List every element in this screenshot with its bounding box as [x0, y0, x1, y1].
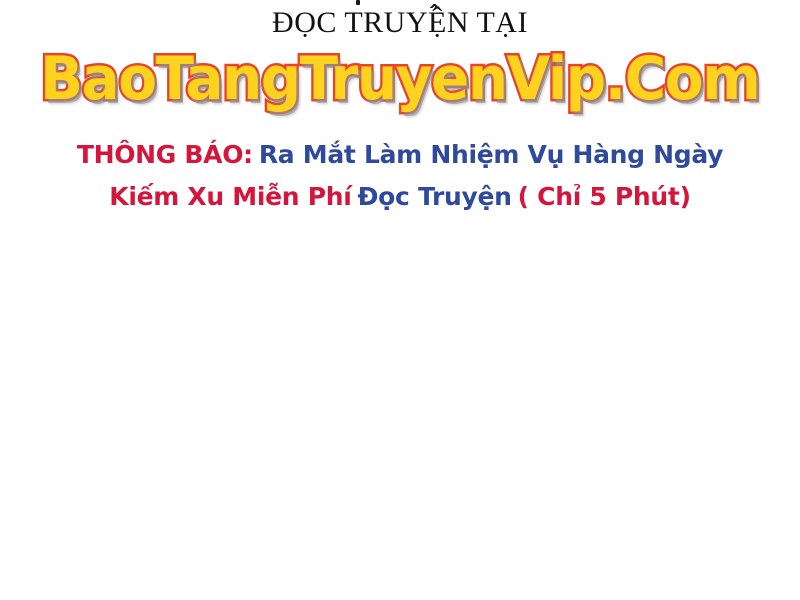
announcement-body: Ra Mắt Làm Nhiệm Vụ Hàng Ngày	[259, 140, 723, 169]
announcement-action-text: Đọc Truyện	[358, 182, 512, 211]
empty-content-area	[0, 224, 800, 600]
page-canvas: ĐỌC TRUYỆN TẠI BaoTangTruyenVip.Com THÔN…	[0, 0, 800, 600]
clipped-diacritic-dot-icon	[356, 0, 360, 5]
site-logo-text: BaoTangTruyenVip.Com	[40, 44, 759, 114]
announcement-reward-text: Kiếm Xu Miễn Phí	[109, 182, 351, 211]
announcement-line-1: THÔNG BÁO:Ra Mắt Làm Nhiệm Vụ Hàng Ngày	[0, 134, 800, 176]
eyebrow-heading: ĐỌC TRUYỆN TẠI	[0, 6, 800, 40]
announcement-duration-text: ( Chỉ 5 Phút)	[518, 182, 691, 211]
announcement-label: THÔNG BÁO:	[77, 140, 253, 169]
announcement-line-2: Kiếm Xu Miễn PhíĐọc Truyện( Chỉ 5 Phút)	[0, 176, 800, 218]
site-logo-wordmark: BaoTangTruyenVip.Com	[0, 44, 800, 118]
announcement-block: THÔNG BÁO:Ra Mắt Làm Nhiệm Vụ Hàng Ngày …	[0, 134, 800, 218]
